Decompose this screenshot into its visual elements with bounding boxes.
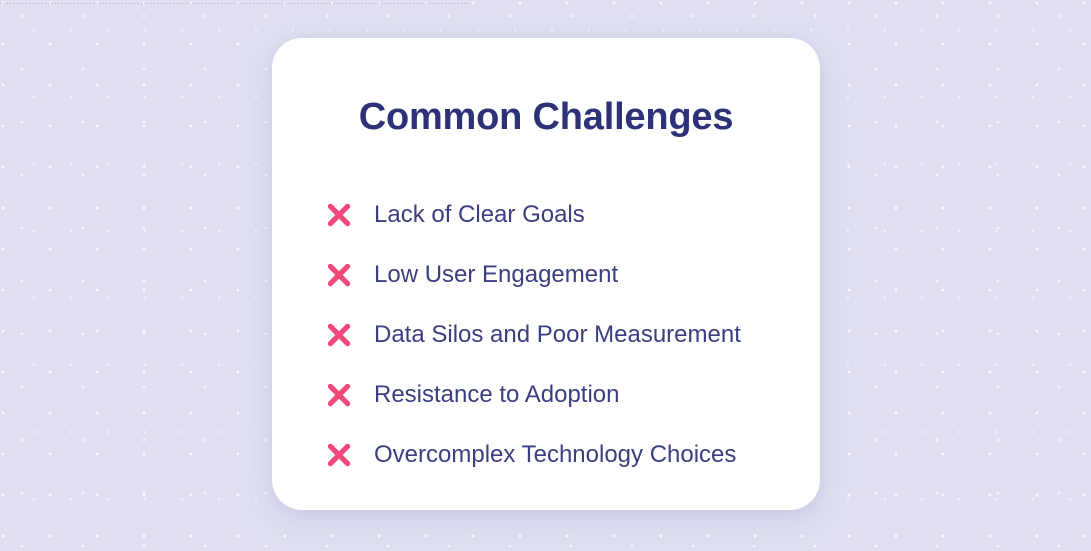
list-item: Data Silos and Poor Measurement [326,305,796,365]
list-item-label: Data Silos and Poor Measurement [374,323,741,347]
challenges-card: Common Challenges Lack of Clear Goals Lo… [272,38,820,510]
page-title: Common Challenges [272,96,820,139]
list-item-label: Low User Engagement [374,263,618,287]
challenge-list: Lack of Clear Goals Low User Engagement … [326,185,796,485]
x-mark-icon [326,202,352,228]
list-item: Overcomplex Technology Choices [326,425,796,485]
list-item-label: Resistance to Adoption [374,383,620,407]
x-mark-icon [326,382,352,408]
list-item-label: Overcomplex Technology Choices [374,443,736,467]
x-mark-icon [326,322,352,348]
list-item-label: Lack of Clear Goals [374,203,585,227]
x-mark-icon [326,442,352,468]
top-dotted-rule [0,3,470,4]
list-item: Low User Engagement [326,245,796,305]
list-item: Lack of Clear Goals [326,185,796,245]
list-item: Resistance to Adoption [326,365,796,425]
slide-canvas: Common Challenges Lack of Clear Goals Lo… [0,0,1091,551]
x-mark-icon [326,262,352,288]
